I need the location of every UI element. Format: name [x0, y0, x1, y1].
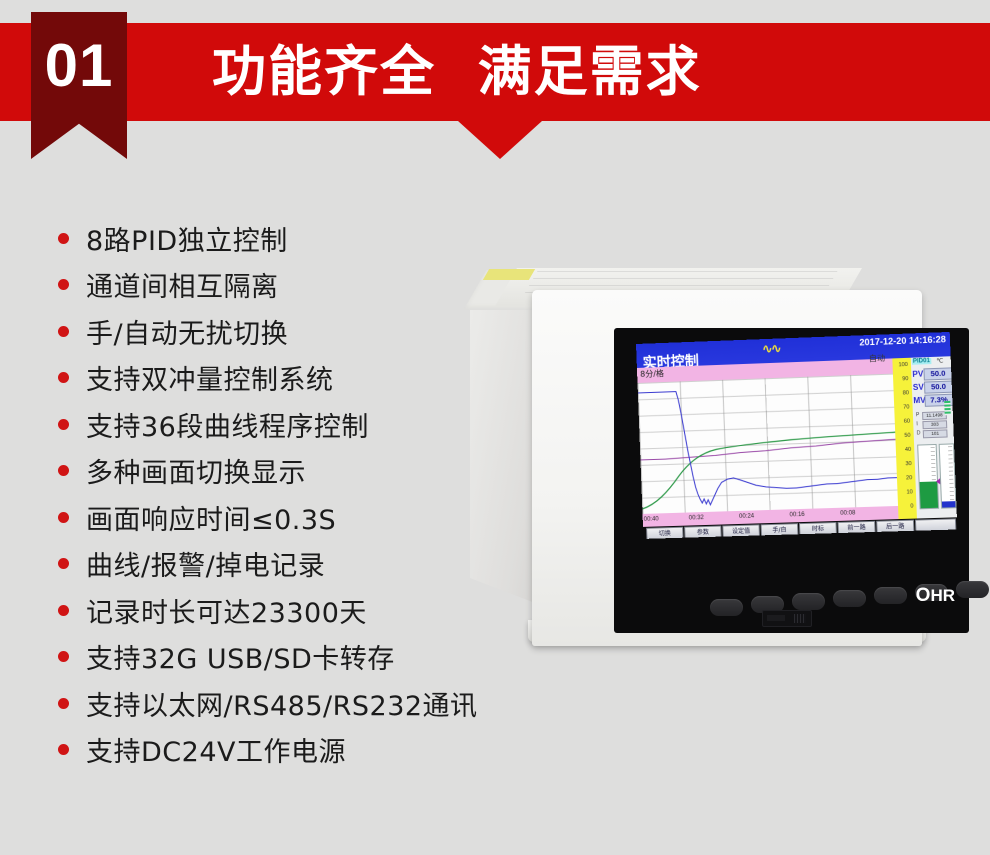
softkey-params[interactable]: 参数	[684, 526, 722, 539]
list-item: 通道间相互隔离	[58, 262, 528, 309]
device-screen-bezel: 实时控制 ∿∿ 2017-12-20 14:16:28 8分/格 自动 00:4…	[614, 328, 969, 633]
list-item: 记录时长可达23300天	[58, 587, 528, 634]
list-item: 曲线/报警/掉电记录	[58, 541, 528, 588]
x-tick-label: 00:16	[789, 512, 804, 519]
list-item: 支持双冲量控制系统	[58, 355, 528, 402]
brand-logo-o: O	[916, 585, 931, 606]
feature-label: 多种画面切换显示	[86, 451, 306, 490]
usb-slot	[767, 615, 785, 621]
feature-label: 支持以太网/RS485/RS232通讯	[86, 684, 478, 723]
softkey-prev-channel[interactable]: 前一路	[837, 521, 875, 536]
lcd-pid-panel: PID01 ℃ PV 50.0 SV 50.0 MV 7.3%	[911, 356, 957, 518]
y-tick-label: 40	[905, 447, 911, 453]
feature-label: 支持32G USB/SD卡转存	[86, 637, 395, 676]
wave-logo-icon: ∿∿	[762, 342, 781, 358]
mv-bar-gauge	[917, 444, 939, 509]
gauge-fill	[942, 502, 956, 508]
y-tick-label: 0	[910, 503, 913, 509]
usb-sd-port[interactable]	[762, 610, 812, 627]
bullet-dot-icon	[58, 465, 69, 476]
usb-grill	[794, 614, 806, 623]
bullet-dot-icon	[58, 558, 69, 569]
hardkey-7[interactable]	[956, 581, 989, 598]
bullet-dot-icon	[58, 698, 69, 709]
bullet-dot-icon	[58, 279, 69, 290]
header-banner: 01 功能齐全 满足需求	[0, 23, 990, 168]
product-device-image: 实时控制 ∿∿ 2017-12-20 14:16:28 8分/格 自动 00:4…	[470, 268, 970, 688]
feature-label: 曲线/报警/掉电记录	[86, 544, 325, 583]
d-label: D	[917, 430, 921, 436]
i-label: I	[916, 421, 918, 427]
section-number: 01	[31, 36, 127, 96]
pid-channel-badge: PID01	[912, 358, 931, 365]
bullet-dot-icon	[58, 744, 69, 755]
feature-label: 记录时长可达23300天	[86, 591, 367, 630]
pid-panel-header: PID01 ℃	[911, 356, 951, 368]
x-tick-label: 00:40	[644, 516, 659, 522]
p-value: 11.1498	[922, 411, 947, 420]
feature-label: 支持DC24V工作电源	[86, 730, 346, 769]
list-item: 支持36段曲线程序控制	[58, 401, 528, 448]
bullet-dot-icon	[58, 512, 69, 523]
signal-bars-icon	[944, 401, 951, 415]
list-item: 支持32G USB/SD卡转存	[58, 634, 528, 681]
gauge-ticks	[948, 446, 954, 505]
list-item: 手/自动无扰切换	[58, 308, 528, 355]
feature-list: 8路PID独立控制 通道间相互隔离 手/自动无扰切换 支持双冲量控制系统 支持3…	[58, 215, 528, 773]
brand-logo-hr: HR	[930, 586, 955, 605]
list-item: 支持以太网/RS485/RS232通讯	[58, 680, 528, 727]
pv-label: PV	[912, 369, 923, 379]
softkey-blank[interactable]	[915, 518, 957, 533]
list-item: 多种画面切换显示	[58, 448, 528, 495]
i-value: 303	[922, 420, 947, 429]
feature-label: 手/自动无扰切换	[86, 312, 288, 351]
bullet-dot-icon	[58, 419, 69, 430]
trend-chart	[637, 374, 898, 514]
pid-unit-label: ℃	[936, 358, 943, 365]
bullet-dot-icon	[58, 326, 69, 337]
hardkey-3[interactable]	[792, 593, 825, 610]
softkey-setpoint[interactable]: 设定值	[722, 524, 760, 539]
sv-label: SV	[913, 383, 924, 392]
section-number-ribbon: 01	[31, 12, 127, 159]
lcd-screen[interactable]: 实时控制 ∿∿ 2017-12-20 14:16:28 8分/格 自动 00:4…	[636, 332, 957, 539]
y-tick-label: 90	[902, 376, 908, 382]
series-pv-line	[638, 384, 898, 507]
y-tick-label: 20	[906, 475, 912, 481]
y-tick-label: 70	[903, 404, 909, 410]
output-bar-gauge	[939, 443, 957, 508]
list-item: 画面响应时间≤0.3S	[58, 494, 528, 541]
x-tick-label: 00:08	[840, 510, 856, 517]
p-label: P	[916, 412, 920, 418]
y-tick-label: 60	[904, 419, 910, 425]
bullet-dot-icon	[58, 605, 69, 616]
y-tick-label: 80	[903, 390, 909, 396]
d-value: 101	[923, 429, 948, 438]
hardkey-5[interactable]	[874, 587, 907, 604]
feature-label: 支持36段曲线程序控制	[86, 405, 369, 444]
x-tick-label: 00:32	[689, 515, 704, 521]
lcd-timescale-label: 8分/格	[640, 368, 664, 380]
y-tick-label: 100	[898, 362, 908, 368]
page-title: 功能齐全 满足需求	[212, 41, 702, 103]
feature-label: 支持双冲量控制系统	[86, 358, 334, 397]
sv-value: 50.0	[924, 381, 953, 394]
series-ramp-line	[640, 432, 898, 509]
pv-value: 50.0	[923, 367, 952, 380]
y-tick-label: 30	[905, 461, 911, 467]
softkey-manual-auto[interactable]: 手/自	[761, 523, 799, 538]
lcd-mode-label: 自动	[869, 353, 886, 365]
y-tick-label: 50	[904, 433, 910, 439]
banner-notch-arrow	[458, 121, 542, 159]
bullet-dot-icon	[58, 651, 69, 662]
x-tick-label: 00:24	[739, 513, 754, 519]
softkey-next-channel[interactable]: 后一路	[876, 520, 914, 535]
trend-chart-svg	[637, 374, 898, 514]
feature-label: 通道间相互隔离	[86, 265, 279, 304]
y-tick-label: 10	[906, 489, 912, 495]
bullet-dot-icon	[58, 372, 69, 383]
brand-logo: OHR	[916, 585, 955, 607]
softkey-switch[interactable]: 切换	[646, 527, 684, 539]
softkey-timemark[interactable]: 时标	[799, 522, 837, 537]
feature-label: 画面响应时间≤0.3S	[86, 498, 336, 537]
device-front-shell: 实时控制 ∿∿ 2017-12-20 14:16:28 8分/格 自动 00:4…	[532, 290, 922, 646]
device-yellow-sticker	[483, 269, 535, 280]
hardkey-1[interactable]	[710, 599, 743, 616]
gauge-fill	[920, 481, 938, 508]
list-item: 支持DC24V工作电源	[58, 727, 528, 774]
bullet-dot-icon	[58, 233, 69, 244]
feature-label: 8路PID独立控制	[86, 219, 288, 258]
list-item: 8路PID独立控制	[58, 215, 528, 262]
hardkey-4[interactable]	[833, 590, 866, 607]
